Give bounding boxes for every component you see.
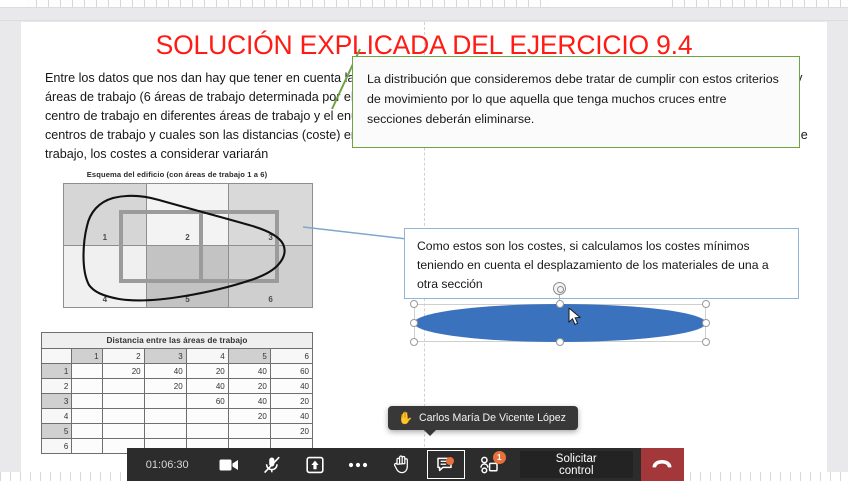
- rotate-handle[interactable]: [553, 282, 566, 295]
- mic-muted-icon: [263, 456, 281, 474]
- cell-r3c2: [102, 394, 144, 409]
- request-control-button[interactable]: Solicitar control: [520, 451, 633, 478]
- table-row: 2 20 40 20 40: [42, 379, 313, 394]
- cell-r1c1: [72, 364, 102, 379]
- col-header-2: 2: [102, 349, 144, 364]
- cell-r3c1: [72, 394, 102, 409]
- area-label-4: 4: [103, 295, 107, 304]
- mic-button[interactable]: [251, 448, 294, 481]
- cell-r5c6: 20: [270, 424, 312, 439]
- camera-icon: [219, 458, 239, 472]
- cell-r2c4: 40: [186, 379, 228, 394]
- cell-r3c6: 20: [270, 394, 312, 409]
- building-area-3: 3: [229, 184, 312, 246]
- participants-button[interactable]: 1: [469, 448, 512, 481]
- cell-r2c6: 40: [270, 379, 312, 394]
- row-header-5: 5: [42, 424, 72, 439]
- col-header-3: 3: [144, 349, 186, 364]
- distance-table-wrapper[interactable]: Distancia entre las áreas de trabajo 1 2…: [41, 332, 313, 454]
- cell-r2c5: 20: [228, 379, 270, 394]
- cell-r1c4: 20: [186, 364, 228, 379]
- col-header-6: 6: [270, 349, 312, 364]
- more-options-button[interactable]: [337, 448, 380, 481]
- cell-r6c1: [72, 439, 102, 454]
- building-area-1: 1: [64, 184, 147, 246]
- more-options-icon: [348, 462, 368, 468]
- raise-hand-icon: [393, 455, 411, 474]
- cell-r2c1: [72, 379, 102, 394]
- resize-handle-middle-left[interactable]: [410, 319, 418, 327]
- building-area-6: 6: [229, 246, 312, 308]
- building-area-2: 2: [147, 184, 230, 246]
- row-header-3: 3: [42, 394, 72, 409]
- cell-r5c4: [186, 424, 228, 439]
- cell-r5c1: [72, 424, 102, 439]
- green-callout-text: La distribución que consideremos debe tr…: [367, 69, 785, 129]
- participants-count-badge: 1: [493, 451, 506, 464]
- ruler-ticks: [0, 0, 848, 8]
- area-label-1: 1: [103, 233, 107, 242]
- table-row: 5 20: [42, 424, 313, 439]
- ellipse-shape[interactable]: [414, 304, 706, 342]
- cell-r1c2: 20: [102, 364, 144, 379]
- app-root: SOLUCIÓN EXPLICADA DEL EJERCICIO 9.4 Ent…: [0, 0, 848, 481]
- distance-table-title: Distancia entre las áreas de trabajo: [42, 333, 313, 349]
- selected-shape-group[interactable]: [402, 286, 718, 342]
- share-screen-icon: [306, 456, 324, 474]
- cell-r4c6: 40: [270, 409, 312, 424]
- col-header-5: 5: [228, 349, 270, 364]
- resize-handle-top-right[interactable]: [702, 300, 710, 308]
- ruler-blank-mid: [550, 0, 670, 8]
- green-callout-box[interactable]: La distribución que consideremos debe tr…: [352, 56, 800, 148]
- col-header-4: 4: [186, 349, 228, 364]
- area-label-3: 3: [268, 233, 272, 242]
- cell-r1c6: 60: [270, 364, 312, 379]
- resize-handle-bottom-left[interactable]: [410, 338, 418, 346]
- meeting-timer: 01:06:30: [127, 459, 207, 471]
- building-area-4: 4: [64, 246, 147, 308]
- building-area-5: 5: [147, 246, 230, 308]
- meeting-toolbar: 01:06:30: [127, 448, 684, 481]
- area-label-2: 2: [185, 233, 189, 242]
- resize-handle-top-center[interactable]: [556, 300, 564, 308]
- cell-r5c5: [228, 424, 270, 439]
- cell-r4c2: [102, 409, 144, 424]
- table-row: 1 20 40 20 40 60: [42, 364, 313, 379]
- participant-tooltip: ✋ Carlos María De Vicente López: [388, 406, 578, 430]
- cell-r4c3: [144, 409, 186, 424]
- cell-r5c2: [102, 424, 144, 439]
- participant-name: Carlos María De Vicente López: [419, 412, 566, 424]
- table-row: 4 20 40: [42, 409, 313, 424]
- resize-handle-bottom-center[interactable]: [556, 338, 564, 346]
- building-grid: 1 2 3 4 5 6: [63, 183, 313, 308]
- distance-table: Distancia entre las áreas de trabajo 1 2…: [41, 332, 313, 454]
- raised-hand-icon: ✋: [398, 412, 413, 424]
- resize-handle-top-left[interactable]: [410, 300, 418, 308]
- row-header-1: 1: [42, 364, 72, 379]
- distance-table-header-row: 1 2 3 4 5 6: [42, 349, 313, 364]
- cell-r3c5: 40: [228, 394, 270, 409]
- resize-handle-middle-right[interactable]: [702, 319, 710, 327]
- chat-unread-badge: [446, 457, 454, 465]
- cell-r1c3: 40: [144, 364, 186, 379]
- cell-r5c3: [144, 424, 186, 439]
- distance-table-title-row: Distancia entre las áreas de trabajo: [42, 333, 313, 349]
- building-diagram-caption: Esquema del edificio (con áreas de traba…: [41, 170, 313, 179]
- resize-handle-bottom-right[interactable]: [702, 338, 710, 346]
- move-cursor-icon: [568, 308, 584, 328]
- cell-r4c4: [186, 409, 228, 424]
- cell-r4c5: 20: [228, 409, 270, 424]
- ruler-blank-left: [0, 0, 26, 8]
- row-header-6: 6: [42, 439, 72, 454]
- cell-r2c2: [102, 379, 144, 394]
- area-label-5: 5: [185, 295, 189, 304]
- top-ruler: [0, 0, 848, 8]
- cell-r3c4: 60: [186, 394, 228, 409]
- share-screen-button[interactable]: [294, 448, 337, 481]
- table-corner-cell: [42, 349, 72, 364]
- building-diagram[interactable]: Esquema del edificio (con áreas de traba…: [41, 170, 313, 318]
- camera-button[interactable]: [207, 448, 250, 481]
- cell-r2c3: 20: [144, 379, 186, 394]
- cell-r4c1: [72, 409, 102, 424]
- hangup-icon: [651, 459, 673, 471]
- row-header-4: 4: [42, 409, 72, 424]
- col-header-1: 1: [72, 349, 102, 364]
- row-header-2: 2: [42, 379, 72, 394]
- ruler-gap: [0, 8, 848, 21]
- raise-hand-button[interactable]: [380, 448, 423, 481]
- table-row: 3 60 40 20: [42, 394, 313, 409]
- hangup-button[interactable]: [641, 448, 684, 481]
- blue-connector-line: [301, 217, 411, 257]
- cell-r3c3: [144, 394, 186, 409]
- cell-r1c5: 40: [228, 364, 270, 379]
- area-label-6: 6: [268, 295, 272, 304]
- chat-button[interactable]: [427, 450, 464, 479]
